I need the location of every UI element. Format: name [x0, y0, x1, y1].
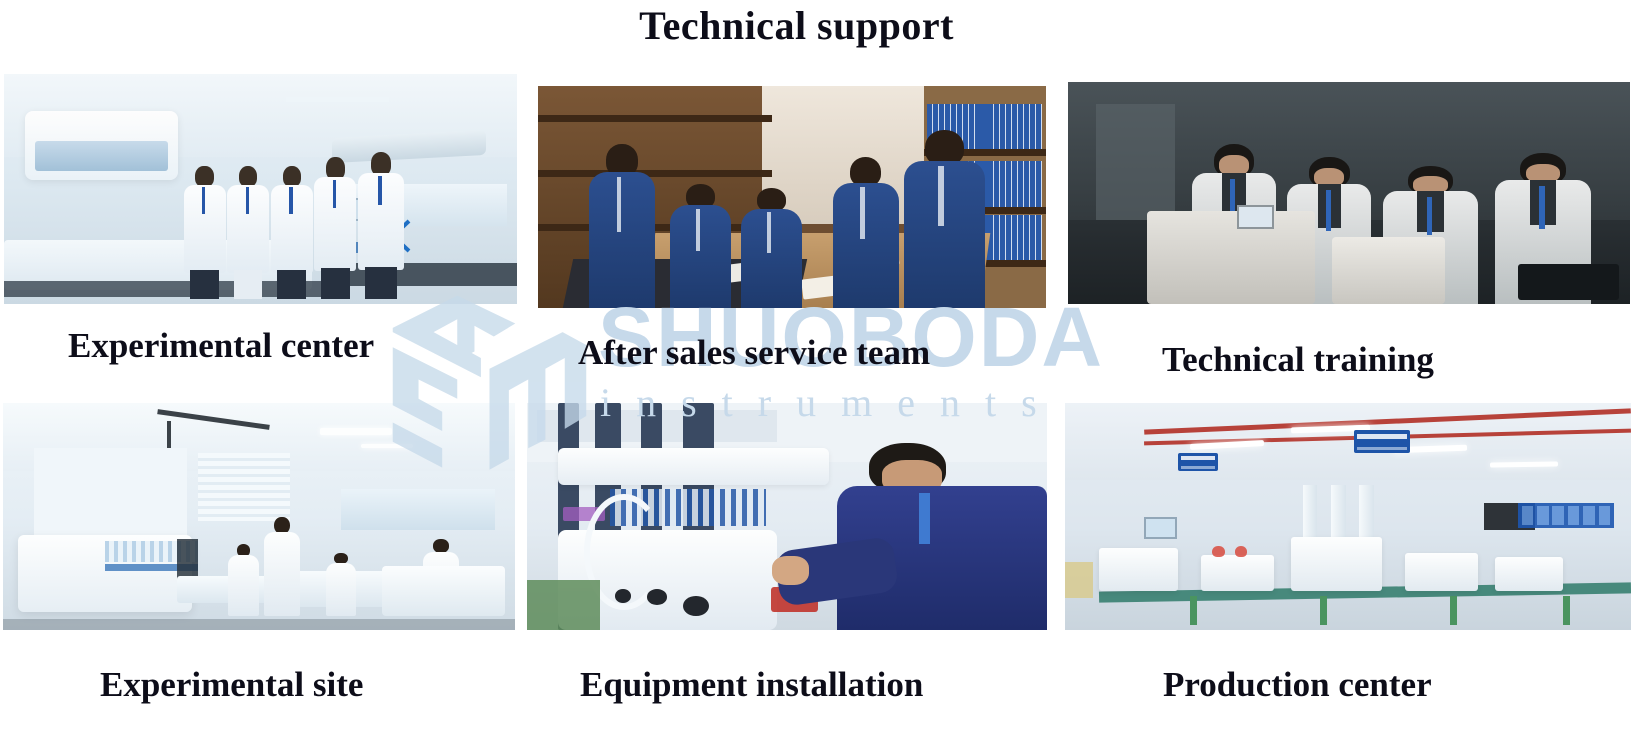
gallery-row-1: Experimental center After sales service … [0, 74, 1632, 314]
caption-experimental-site: Experimental site [100, 665, 363, 705]
gallery-row-2: Experimental site Equipment installation… [0, 403, 1632, 643]
photo-production-center[interactable] [1065, 403, 1631, 630]
caption-technical-training: Technical training [1162, 340, 1434, 380]
caption-after-sales-service-team: After sales service team [578, 333, 930, 373]
technical-support-page: Technical support [0, 0, 1632, 755]
gallery-cell-production-center[interactable] [1065, 403, 1631, 630]
gallery-cell-technical-training[interactable] [1068, 82, 1630, 304]
page-title: Technical support [0, 2, 1593, 49]
caption-equipment-installation: Equipment installation [580, 665, 923, 705]
gallery-cell-experimental-center[interactable] [4, 74, 517, 304]
gallery-cell-after-sales-service-team[interactable] [538, 86, 1046, 308]
photo-technical-training[interactable] [1068, 82, 1630, 304]
photo-experimental-center[interactable] [4, 74, 517, 304]
photo-after-sales-service-team[interactable] [538, 86, 1046, 308]
caption-experimental-center: Experimental center [68, 326, 374, 366]
caption-production-center: Production center [1163, 665, 1432, 705]
photo-experimental-site[interactable] [3, 403, 515, 630]
gallery-cell-experimental-site[interactable] [3, 403, 515, 630]
technician-figure [818, 435, 1047, 630]
gallery-cell-equipment-installation[interactable] [527, 403, 1047, 630]
photo-equipment-installation[interactable] [527, 403, 1047, 630]
